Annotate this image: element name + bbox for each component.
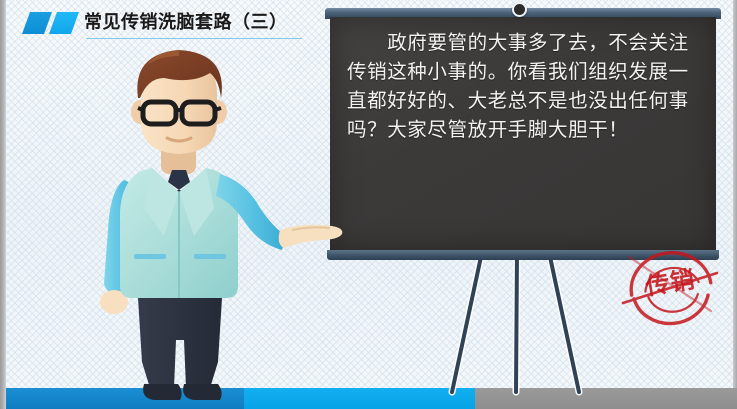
character-trousers <box>138 298 222 388</box>
board-knob-icon <box>512 2 527 17</box>
character-pocket-left <box>134 254 166 259</box>
character-shoe-right <box>183 384 221 400</box>
character-shoe-left <box>143 384 181 400</box>
presenter-character <box>60 40 360 409</box>
blackboard-text: 政府要管的大事多了去，不会关注传销这种小事的。你看我们组织发展一直都好好的、大老… <box>347 28 695 144</box>
pyramid-scheme-stamp: 传销 <box>615 237 725 337</box>
slide-canvas: 常见传销洗脑套路（三） <box>0 0 737 409</box>
blackboard: 政府要管的大事多了去，不会关注传销这种小事的。你看我们组织发展一直都好好的、大老… <box>325 8 721 260</box>
character-pocket-right <box>194 254 226 259</box>
